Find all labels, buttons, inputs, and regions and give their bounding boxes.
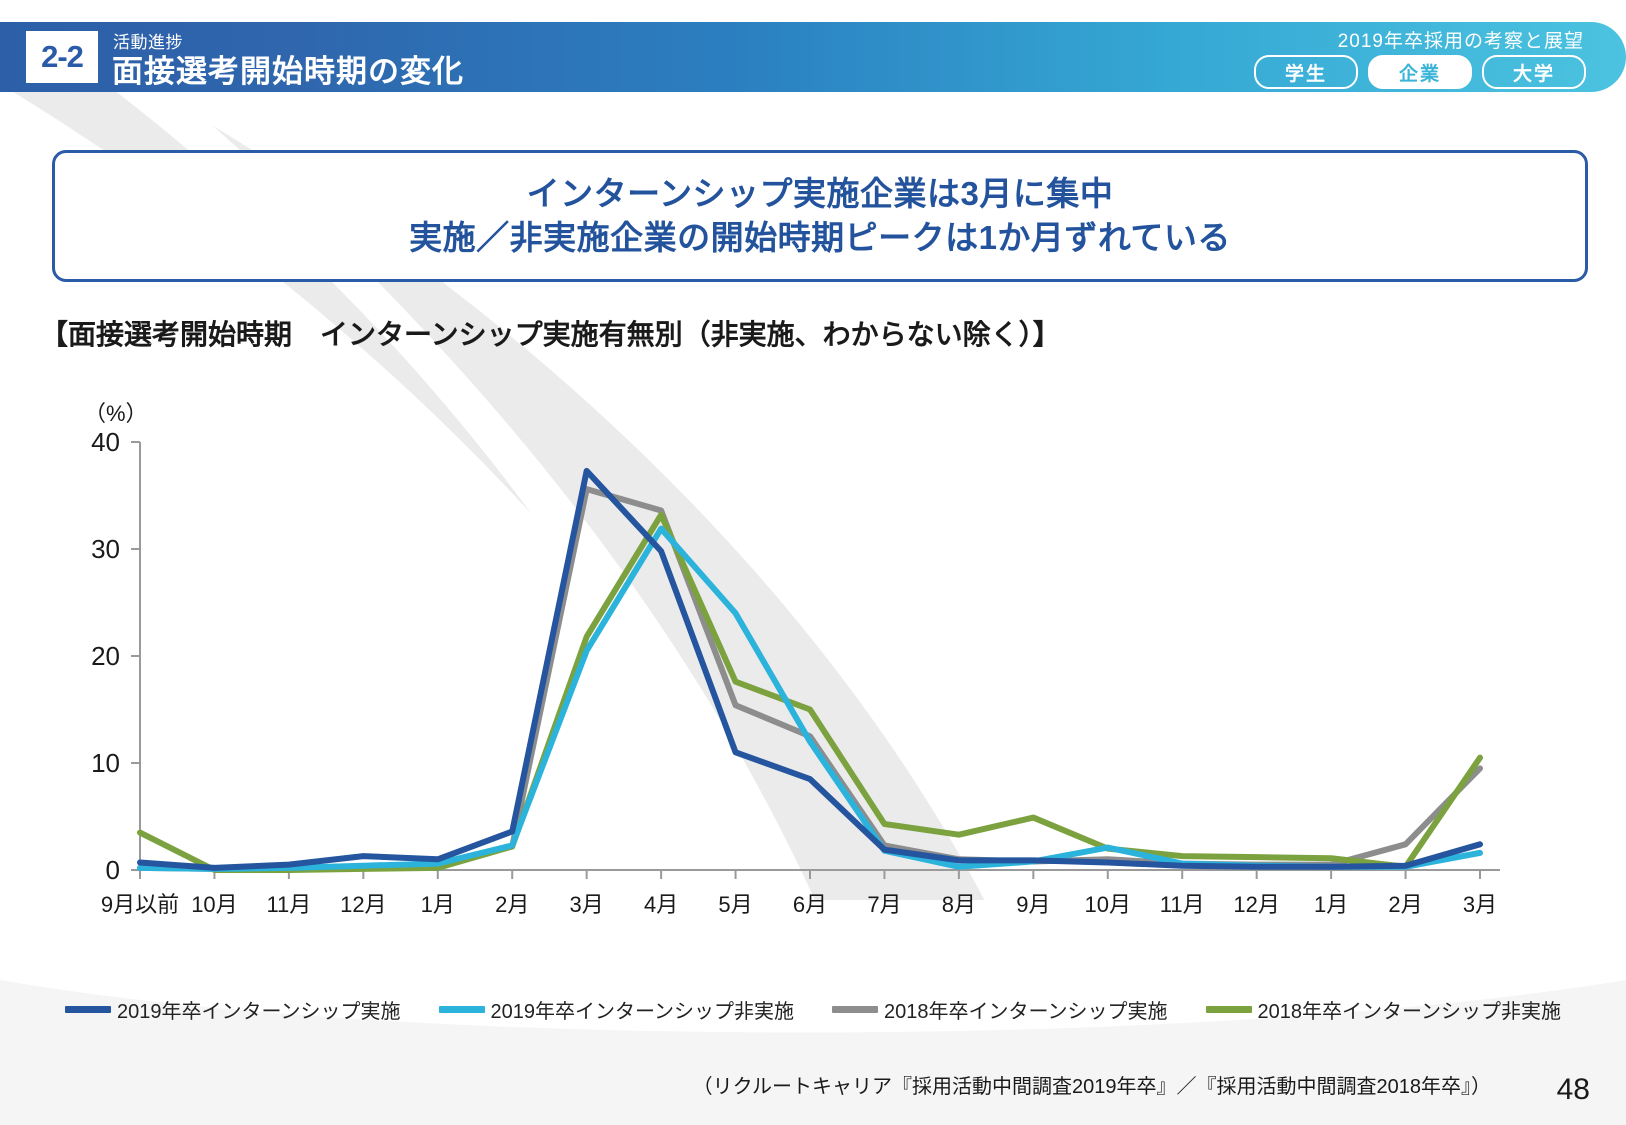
legend-item-2018-intern-yes[interactable]: 2018年卒インターンシップ実施 (832, 995, 1168, 1024)
legend-label-2018-intern-no: 2018年卒インターンシップ非実施 (1258, 995, 1562, 1024)
svg-text:10月: 10月 (1085, 892, 1131, 917)
y-axis-unit-label: （%） (84, 396, 148, 428)
svg-text:1月: 1月 (1314, 892, 1348, 917)
svg-text:9月: 9月 (1016, 892, 1050, 917)
page-number: 48 (1557, 1073, 1590, 1107)
legend-item-2018-intern-no[interactable]: 2018年卒インターンシップ非実施 (1206, 995, 1562, 1024)
svg-text:1月: 1月 (421, 892, 455, 917)
svg-text:30: 30 (91, 534, 120, 564)
legend-label-2018-intern-yes: 2018年卒インターンシップ実施 (884, 995, 1168, 1024)
svg-text:9月以前: 9月以前 (101, 892, 179, 917)
svg-text:0: 0 (106, 855, 120, 885)
svg-text:20: 20 (91, 641, 120, 671)
source-note: （リクルートキャリア『採用活動中間調査2019年卒』／『採用活動中間調査2018… (693, 1070, 1491, 1099)
svg-text:2月: 2月 (1388, 892, 1422, 917)
svg-text:7月: 7月 (867, 892, 901, 917)
section-number: 2-2 (26, 31, 98, 83)
page-title: 面接選考開始時期の変化 (112, 46, 464, 91)
legend-item-2019-intern-yes[interactable]: 2019年卒インターンシップ実施 (65, 995, 401, 1024)
page-header: 2-2 活動進捗 面接選考開始時期の変化 2019年卒採用の考察と展望 学生 企… (0, 22, 1626, 92)
report-label: 2019年卒採用の考察と展望 (1338, 26, 1584, 53)
pill-university[interactable]: 大学 (1482, 55, 1586, 89)
legend-swatch-2019-intern-yes (65, 1006, 111, 1013)
chart-legend: 2019年卒インターンシップ実施 2019年卒インターンシップ非実施 2018年… (0, 995, 1626, 1024)
legend-item-2019-intern-no[interactable]: 2019年卒インターンシップ非実施 (439, 995, 795, 1024)
svg-text:4月: 4月 (644, 892, 678, 917)
svg-text:2月: 2月 (495, 892, 529, 917)
svg-text:3月: 3月 (1463, 892, 1497, 917)
chart-container: （%） 0102030409月以前10月11月12月1月2月3月4月5月6月7月… (0, 380, 1626, 1000)
svg-text:5月: 5月 (718, 892, 752, 917)
header-right-group: 2019年卒採用の考察と展望 学生 企業 大学 (1170, 26, 1590, 90)
chart-caption: 【面接選考開始時期 インターンシップ実施有無別（非実施、わからない除く）】 (40, 313, 1061, 353)
svg-text:10月: 10月 (191, 892, 237, 917)
legend-label-2019-intern-yes: 2019年卒インターンシップ実施 (117, 995, 401, 1024)
key-message-line-2: 実施／非実施企業の開始時期ピークは1か月ずれている (409, 216, 1231, 260)
line-chart: 0102030409月以前10月11月12月1月2月3月4月5月6月7月8月9月… (0, 380, 1626, 980)
svg-text:10: 10 (91, 748, 120, 778)
pill-student[interactable]: 学生 (1254, 55, 1358, 89)
svg-text:12月: 12月 (1233, 892, 1279, 917)
key-message-line-1: インターンシップ実施企業は3月に集中 (527, 172, 1114, 216)
svg-text:11月: 11月 (1160, 892, 1205, 917)
pill-company[interactable]: 企業 (1368, 55, 1472, 89)
svg-text:8月: 8月 (942, 892, 976, 917)
legend-swatch-2018-intern-yes (832, 1006, 878, 1013)
audience-pill-group: 学生 企業 大学 (1254, 55, 1586, 89)
svg-text:40: 40 (91, 427, 120, 457)
svg-text:12月: 12月 (340, 892, 386, 917)
legend-label-2019-intern-no: 2019年卒インターンシップ非実施 (491, 995, 795, 1024)
key-message-box: インターンシップ実施企業は3月に集中 実施／非実施企業の開始時期ピークは1か月ず… (52, 150, 1588, 282)
svg-text:6月: 6月 (793, 892, 827, 917)
legend-swatch-2018-intern-no (1206, 1006, 1252, 1013)
svg-text:3月: 3月 (570, 892, 604, 917)
legend-swatch-2019-intern-no (439, 1006, 485, 1013)
svg-text:11月: 11月 (266, 892, 311, 917)
